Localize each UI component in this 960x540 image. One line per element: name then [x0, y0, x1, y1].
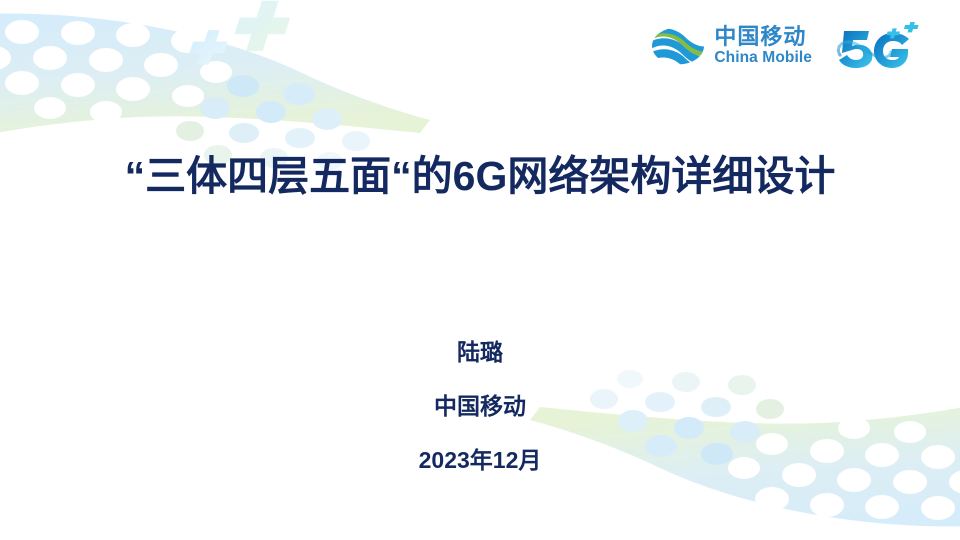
china-mobile-logo: 中国移动 China Mobile — [651, 23, 812, 69]
subtitle-organization: 中国移动 — [0, 395, 960, 418]
presentation-title-slide: 中国移动 China Mobile — [0, 0, 960, 540]
slide-title: “三体四层五面“的6G网络架构详细设计 — [0, 152, 960, 200]
subtitle-date: 2023年12月 — [0, 449, 960, 472]
china-mobile-wordmark: 中国移动 China Mobile — [714, 26, 812, 66]
logo-bar: 中国移动 China Mobile — [651, 22, 920, 70]
top-left-swoosh — [0, 13, 430, 136]
china-mobile-english-text: China Mobile — [714, 50, 812, 66]
subtitle-author: 陆璐 — [0, 341, 960, 364]
top-left-plus-small — [189, 30, 227, 65]
slide-subtitle-block: 陆璐 中国移动 2023年12月 — [0, 341, 960, 472]
china-mobile-mark — [651, 23, 705, 69]
china-mobile-chinese-text: 中国移动 — [714, 26, 812, 48]
top-left-plus-large — [234, 1, 290, 51]
5g-plus-plus-logo — [834, 22, 920, 70]
